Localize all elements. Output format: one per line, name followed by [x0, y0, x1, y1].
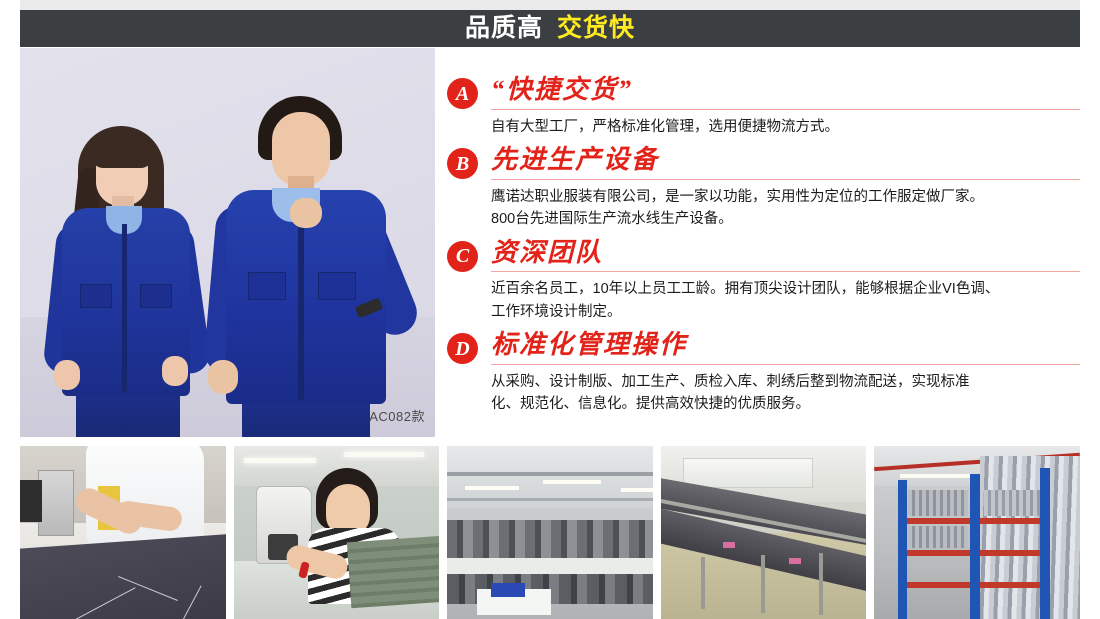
- female-model-right-pocket: [140, 284, 172, 308]
- feature-body-b-line-1: 鹰诺达职业服装有限公司，是一家以功能，实用性为定位的工作服定做厂家。: [491, 186, 1080, 208]
- feature-badge-c: C: [447, 241, 478, 272]
- female-model-left-pocket: [80, 284, 112, 308]
- page-root: 品质高 交货快 AC082款: [0, 0, 1100, 619]
- feature-item-d: D 标准化管理操作 从采购、设计制版、加工生产、质检入库、刺绣后整到物流配送，实…: [447, 331, 1080, 416]
- feature-body-c-line-2: 工作环境设计制定。: [491, 301, 1080, 323]
- factory-light-3: [621, 488, 653, 492]
- rack-column-2: [970, 474, 980, 619]
- packed-bundle-3: [984, 490, 1042, 516]
- feature-item-c: C 资深团队 近百余名员工，10年以上员工工龄。拥有顶尖设计团队，能够根据企业V…: [447, 239, 1080, 324]
- gallery-photo-assembly-line: [661, 446, 867, 619]
- rack-column-3: [1040, 468, 1050, 619]
- conveyor-leg-2: [761, 555, 765, 613]
- female-model-left-hand: [54, 360, 80, 390]
- gallery-photo-production-floor: [447, 446, 653, 619]
- feature-heading-c: 资深团队: [491, 239, 1080, 273]
- hall-window: [683, 458, 813, 488]
- male-model-right-pocket: [318, 272, 356, 300]
- feature-heading-d: 标准化管理操作: [491, 331, 1080, 365]
- feature-body-d-line-2: 化、规范化、信息化。提供高效快捷的优质服务。: [491, 393, 1080, 415]
- packed-bundle-2: [908, 526, 968, 548]
- rack-column-1: [898, 480, 907, 619]
- male-model-face: [272, 112, 330, 186]
- computer-monitor: [20, 480, 42, 522]
- header-title-primary: 品质高: [465, 16, 543, 41]
- male-model-left-pocket: [248, 272, 286, 300]
- feature-badge-b: B: [447, 148, 478, 179]
- feature-badge-d: D: [447, 333, 478, 364]
- feature-body-d: 从采购、设计制版、加工生产、质检入库、刺绣后整到物流配送，实现标准 化、规范化、…: [491, 371, 1080, 416]
- blue-garment-piece: [491, 583, 525, 597]
- header-title-accent: 交货快: [557, 16, 635, 41]
- feature-body-a-line-1: 自有大型工厂，严格标准化管理，选用便捷物流方式。: [491, 116, 1080, 138]
- male-model-placket: [298, 208, 304, 400]
- gallery-photo-pattern-cutting: [20, 446, 226, 619]
- work-table-row: [447, 558, 653, 574]
- feature-body-b: 鹰诺达职业服装有限公司，是一家以功能，实用性为定位的工作服定做厂家。 800台先…: [491, 186, 1080, 231]
- factory-light-1: [465, 486, 519, 490]
- ceiling-light-1: [244, 458, 316, 463]
- garment-tag-2: [789, 558, 801, 564]
- feature-item-b: B 先进生产设备 鹰诺达职业服装有限公司，是一家以功能，实用性为定位的工作服定做…: [447, 146, 1080, 231]
- female-model-hair-front: [92, 134, 152, 168]
- worker-row-back: [447, 520, 653, 558]
- hanging-garment-bags: [980, 456, 1080, 619]
- conveyor-leg-3: [819, 553, 823, 615]
- feature-body-c-line-1: 近百余名员工，10年以上员工工龄。拥有顶尖设计团队，能够根据企业VI色调、: [491, 278, 1080, 300]
- feature-body-a: 自有大型工厂，严格标准化管理，选用便捷物流方式。: [491, 116, 1080, 138]
- feature-list: A “快捷交货” 自有大型工厂，严格标准化管理，选用便捷物流方式。 B 先进生产…: [447, 76, 1080, 438]
- gallery-photo-sewing-operator: [234, 446, 440, 619]
- female-model-placket: [122, 224, 127, 392]
- male-model-right-hand: [290, 198, 322, 228]
- male-model-left-hand: [208, 360, 238, 394]
- gallery-photo-warehouse-racks: [874, 446, 1080, 619]
- factory-photo-strip: [20, 446, 1080, 619]
- factory-light-2: [543, 480, 601, 484]
- top-strip: [20, 0, 1080, 10]
- feature-body-b-line-2: 800台先进国际生产流水线生产设备。: [491, 208, 1080, 230]
- conveyor-leg-1: [701, 557, 705, 609]
- fabric-stack: [347, 536, 439, 609]
- garment-tag-1: [723, 542, 735, 548]
- ceiling-beam-2: [447, 498, 653, 501]
- ceiling-light-2: [344, 452, 424, 457]
- feature-badge-a: A: [447, 78, 478, 109]
- feature-heading-b: 先进生产设备: [491, 146, 1080, 180]
- header-banner: 品质高 交货快: [20, 10, 1080, 47]
- female-model-right-hand: [162, 356, 188, 386]
- hero-product-photo: AC082款: [20, 48, 435, 437]
- packed-bundle-1: [908, 490, 968, 516]
- feature-body-c: 近百余名员工，10年以上员工工龄。拥有顶尖设计团队，能够根据企业VI色调、 工作…: [491, 278, 1080, 323]
- feature-body-d-line-1: 从采购、设计制版、加工生产、质检入库、刺绣后整到物流配送，实现标准: [491, 371, 1080, 393]
- product-code-label: AC082款: [369, 406, 425, 425]
- feature-heading-a: “快捷交货”: [491, 76, 1080, 110]
- ceiling-beam-1: [447, 472, 653, 476]
- feature-item-a: A “快捷交货” 自有大型工厂，严格标准化管理，选用便捷物流方式。: [447, 76, 1080, 138]
- computer-tower: [38, 470, 74, 536]
